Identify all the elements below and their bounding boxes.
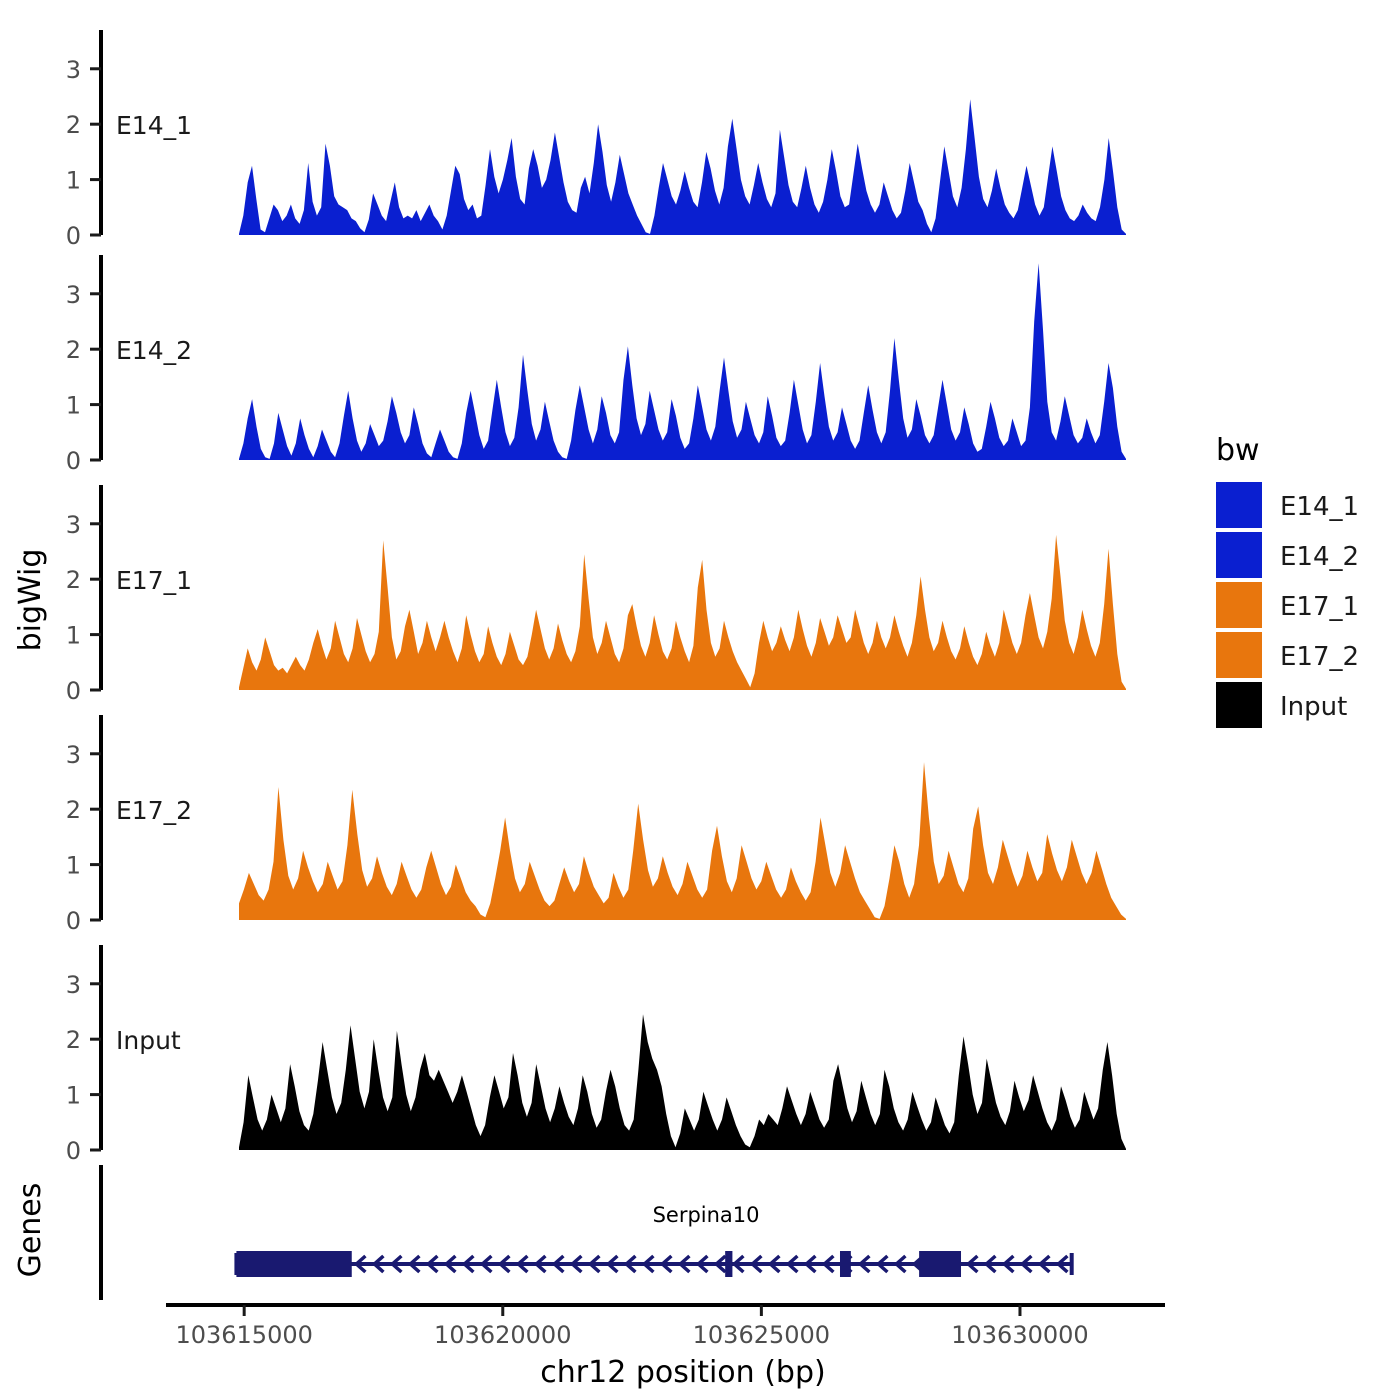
genome-browser-figure: bigWig Genes chr12 position (bp) 0123E14… bbox=[0, 0, 1400, 1400]
y-axis-title-bigwig: bigWig bbox=[13, 549, 48, 652]
legend-swatch-e17_1[interactable] bbox=[1216, 582, 1262, 628]
figure-canvas: bigWig Genes chr12 position (bp) 0123E14… bbox=[0, 0, 1400, 1400]
y-tick-label: 0 bbox=[66, 1137, 81, 1165]
legend-swatch-e14_1[interactable] bbox=[1216, 482, 1262, 528]
x-tick-label: 103625000 bbox=[693, 1321, 830, 1349]
legend-title: bw bbox=[1216, 433, 1260, 468]
legend-swatch-e17_2[interactable] bbox=[1216, 632, 1262, 678]
legend-label-e17_1: E17_1 bbox=[1280, 592, 1359, 622]
y-tick-label: 0 bbox=[66, 907, 81, 935]
track-label: E17_1 bbox=[116, 566, 192, 595]
x-tick-label: 103615000 bbox=[175, 1321, 312, 1349]
x-axis-title: chr12 position (bp) bbox=[540, 1355, 825, 1390]
y-tick-label: 3 bbox=[66, 511, 81, 539]
y-tick-label: 2 bbox=[66, 796, 81, 824]
gene-exon bbox=[840, 1251, 851, 1277]
y-tick-label: 0 bbox=[66, 677, 81, 705]
y-tick-label: 3 bbox=[66, 281, 81, 309]
y-tick-label: 1 bbox=[66, 392, 81, 420]
gene-exon bbox=[725, 1251, 732, 1277]
y-tick-label: 2 bbox=[66, 1026, 81, 1054]
y-tick-label: 2 bbox=[66, 111, 81, 139]
legend-swatch-input[interactable] bbox=[1216, 682, 1262, 728]
legend-label-e17_2: E17_2 bbox=[1280, 642, 1359, 672]
gene-name-label: Serpina10 bbox=[653, 1203, 760, 1227]
track-label: E14_1 bbox=[116, 111, 192, 140]
y-tick-label: 2 bbox=[66, 566, 81, 594]
y-tick-label: 3 bbox=[66, 741, 81, 769]
track-label: E17_2 bbox=[116, 796, 192, 825]
y-tick-label: 1 bbox=[66, 167, 81, 195]
legend-label-e14_1: E14_1 bbox=[1280, 492, 1359, 522]
y-tick-label: 2 bbox=[66, 336, 81, 364]
y-tick-label: 0 bbox=[66, 222, 81, 250]
x-tick-label: 103630000 bbox=[951, 1321, 1088, 1349]
y-axis-title-genes: Genes bbox=[13, 1183, 48, 1278]
x-tick-label: 103620000 bbox=[434, 1321, 571, 1349]
y-tick-label: 1 bbox=[66, 1082, 81, 1110]
y-tick-label: 0 bbox=[66, 447, 81, 475]
legend-swatch-e14_2[interactable] bbox=[1216, 532, 1262, 578]
legend-label-e14_2: E14_2 bbox=[1280, 542, 1359, 572]
track-label: E14_2 bbox=[116, 336, 192, 365]
gene-exon bbox=[236, 1251, 351, 1277]
y-tick-label: 1 bbox=[66, 622, 81, 650]
gene-exon bbox=[919, 1251, 961, 1277]
y-tick-label: 3 bbox=[66, 971, 81, 999]
track-label: Input bbox=[116, 1026, 181, 1055]
y-tick-label: 3 bbox=[66, 56, 81, 84]
y-tick-label: 1 bbox=[66, 852, 81, 880]
legend-label-input: Input bbox=[1280, 692, 1347, 722]
